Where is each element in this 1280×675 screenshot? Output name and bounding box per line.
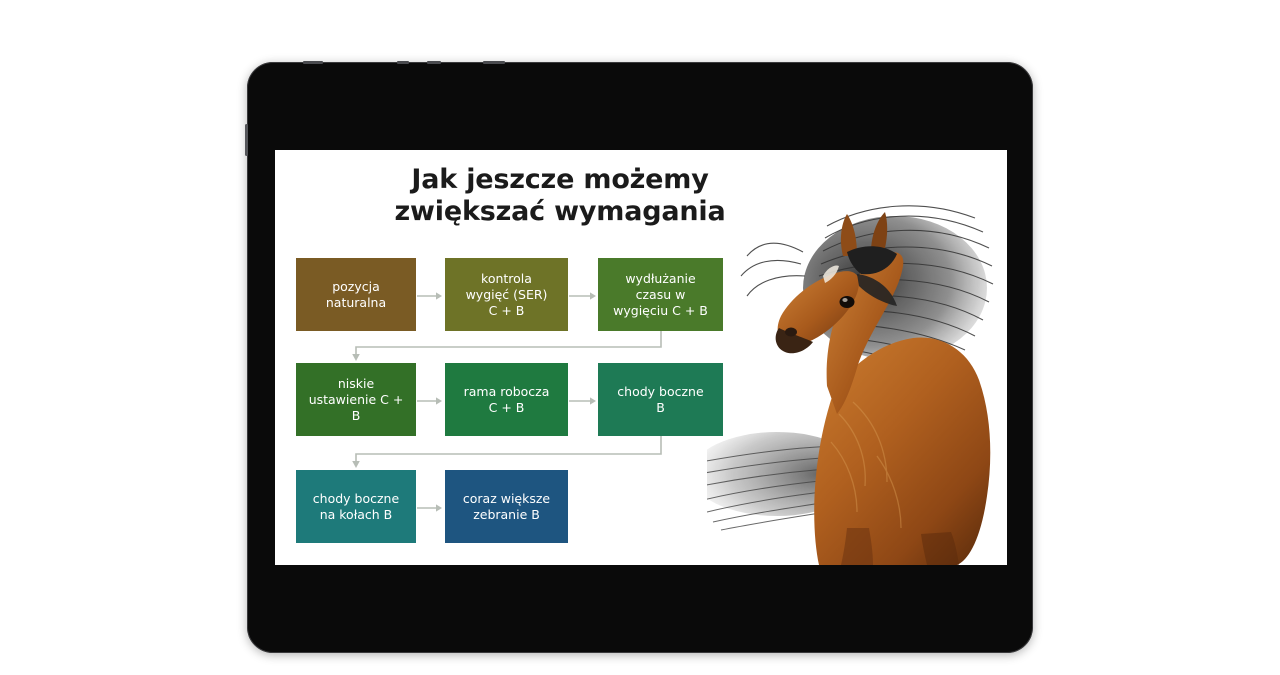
tablet-antenna-line bbox=[303, 61, 323, 64]
flow-box-niskie-ustawienie: niskie ustawienie C + B bbox=[296, 363, 416, 436]
arrow-right-icon bbox=[569, 291, 598, 301]
tablet-side-button[interactable] bbox=[245, 124, 248, 156]
flowchart-diagram: pozycja naturalna kontrola wygięć (SER) … bbox=[286, 258, 746, 558]
tablet-antenna-line bbox=[397, 61, 409, 64]
flow-box-pozycja-naturalna: pozycja naturalna bbox=[296, 258, 416, 331]
tablet-antenna-line bbox=[483, 61, 505, 64]
tablet-device: Jak jeszcze możemy zwiększać wymagania p… bbox=[247, 62, 1033, 653]
arrow-right-icon bbox=[417, 396, 444, 406]
flow-box-coraz-wieksze-zebranie: coraz większe zebranie B bbox=[445, 470, 568, 543]
horse-photo bbox=[707, 156, 1007, 565]
flow-box-wydluzanie-czasu: wydłużanie czasu w wygięciu C + B bbox=[598, 258, 723, 331]
arrow-right-icon bbox=[569, 396, 598, 406]
connector-row1-to-row2 bbox=[346, 331, 666, 364]
tablet-screen[interactable]: Jak jeszcze możemy zwiększać wymagania p… bbox=[275, 150, 1007, 565]
flow-box-chody-boczne-na-kolach: chody boczne na kołach B bbox=[296, 470, 416, 543]
flow-box-kontrola-wygiec: kontrola wygięć (SER) C + B bbox=[445, 258, 568, 331]
arrow-right-icon bbox=[417, 291, 444, 301]
flow-box-chody-boczne: chody boczne B bbox=[598, 363, 723, 436]
tablet-antenna-line bbox=[427, 61, 441, 64]
flow-box-rama-robocza: rama robocza C + B bbox=[445, 363, 568, 436]
connector-row2-to-row3 bbox=[346, 436, 666, 472]
arrow-right-icon bbox=[417, 503, 444, 513]
